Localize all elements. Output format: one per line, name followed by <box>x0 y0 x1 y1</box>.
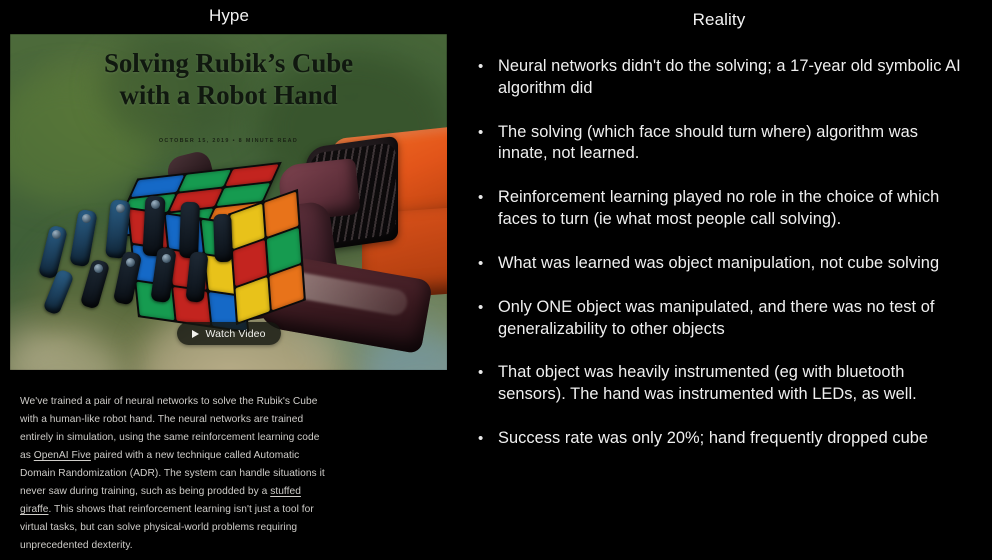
caption-part-3: . This shows that reinforcement learning… <box>20 504 314 551</box>
robot-finger <box>213 214 233 263</box>
list-item: • Only ONE object was manipulated, and t… <box>472 297 964 341</box>
list-item-text: That object was heavily instrumented (eg… <box>498 362 964 406</box>
bullet-marker: • <box>472 297 498 341</box>
bullet-marker: • <box>472 362 498 406</box>
openai-five-link[interactable]: OpenAI Five <box>34 450 91 461</box>
finger-joint <box>82 214 91 223</box>
list-item-text: The solving (which face should turn wher… <box>498 122 964 166</box>
cube-face-right <box>228 189 306 325</box>
reality-heading: Reality <box>464 11 974 28</box>
reality-column: Reality • Neural networks didn't do the … <box>464 0 992 560</box>
finger-joint <box>94 264 103 273</box>
list-item: • Neural networks didn't do the solving;… <box>472 56 964 100</box>
slide-root: Hype Solving Rubik’s Cube with a Robot H… <box>0 0 992 560</box>
bullet-marker: • <box>472 122 498 166</box>
list-item: • That object was heavily instrumented (… <box>472 362 964 406</box>
watch-video-label: Watch Video <box>205 328 265 340</box>
list-item-text: Reinforcement learning played no role in… <box>498 187 964 231</box>
finger-joint <box>52 230 61 239</box>
reality-bullet-list: • Neural networks didn't do the solving;… <box>472 56 964 472</box>
bullet-marker: • <box>472 56 498 100</box>
list-item: • The solving (which face should turn wh… <box>472 122 964 166</box>
list-item-text: Only ONE object was manipulated, and the… <box>498 297 964 341</box>
finger-joint <box>116 204 125 213</box>
hype-heading: Hype <box>0 7 458 24</box>
bullet-marker: • <box>472 253 498 275</box>
play-icon <box>192 330 199 338</box>
list-item-text: What was learned was object manipulation… <box>498 253 964 275</box>
article-caption: We've trained a pair of neural networks … <box>20 393 325 555</box>
list-item: • Reinforcement learning played no role … <box>472 187 964 231</box>
finger-joint <box>151 200 160 209</box>
bullet-marker: • <box>472 187 498 231</box>
hype-column: Hype Solving Rubik’s Cube with a Robot H… <box>0 0 464 560</box>
article-card-image[interactable]: Solving Rubik’s Cube with a Robot Hand O… <box>10 34 447 370</box>
finger-joint <box>162 254 171 263</box>
finger-joint <box>126 258 135 267</box>
watch-video-button[interactable]: Watch Video <box>177 322 281 345</box>
list-item: • What was learned was object manipulati… <box>472 253 964 275</box>
robot-finger <box>179 202 200 259</box>
list-item: • Success rate was only 20%; hand freque… <box>472 428 964 450</box>
bullet-marker: • <box>472 428 498 450</box>
robot-hand-photo <box>10 34 447 370</box>
list-item-text: Neural networks didn't do the solving; a… <box>498 56 964 100</box>
list-item-text: Success rate was only 20%; hand frequent… <box>498 428 964 450</box>
